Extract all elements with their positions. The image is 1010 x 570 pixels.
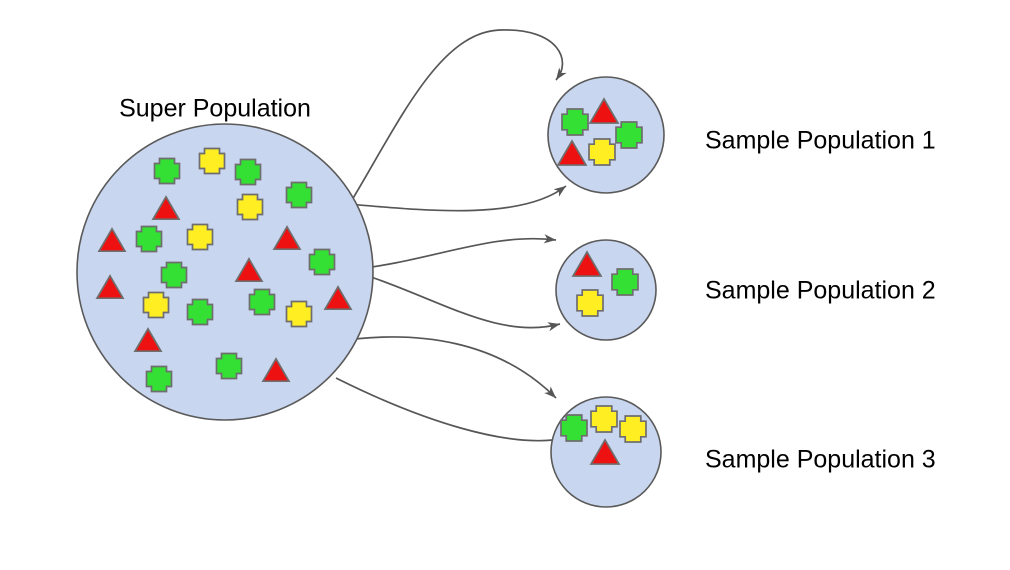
super-to-sample-1-arrow bbox=[352, 30, 567, 200]
sample-2-to-super-curve bbox=[368, 276, 560, 328]
sample-population-3-group[interactable] bbox=[551, 397, 661, 507]
sample-3-to-super-curve bbox=[336, 378, 566, 441]
super-to-sample-2-curve bbox=[348, 239, 556, 270]
super-to-sample-1-curve bbox=[352, 30, 562, 200]
sample-1-to-super-arrow bbox=[336, 186, 566, 211]
super-to-sample-2-arrow bbox=[348, 234, 556, 270]
sample-population-2-group[interactable] bbox=[556, 240, 656, 340]
sample-population-3-label: Sample Population 3 bbox=[705, 446, 936, 474]
sample-populations-group[interactable] bbox=[548, 77, 664, 507]
super-population-label: Super Population bbox=[119, 95, 311, 123]
sample-2-to-super-arrow bbox=[368, 276, 560, 331]
sample-population-1-group[interactable] bbox=[548, 77, 664, 193]
super-population-group[interactable] bbox=[77, 124, 373, 420]
sample-population-2-circle[interactable] bbox=[556, 240, 656, 340]
super-to-sample-3-arrow bbox=[332, 337, 556, 398]
sample-population-2-label: Sample Population 2 bbox=[705, 277, 936, 305]
diagram-canvas: Super PopulationSample Population 1Sampl… bbox=[0, 0, 1010, 570]
population-sampling-diagram: Super PopulationSample Population 1Sampl… bbox=[0, 0, 1010, 570]
sample-population-1-circle[interactable] bbox=[548, 77, 664, 193]
sample-1-to-super-arrowhead bbox=[554, 186, 566, 197]
sample-population-1-label: Sample Population 1 bbox=[705, 127, 936, 155]
sample-3-to-super-arrow bbox=[336, 378, 566, 445]
sample-1-to-super-curve bbox=[336, 186, 566, 211]
super-to-sample-3-curve bbox=[332, 337, 556, 398]
